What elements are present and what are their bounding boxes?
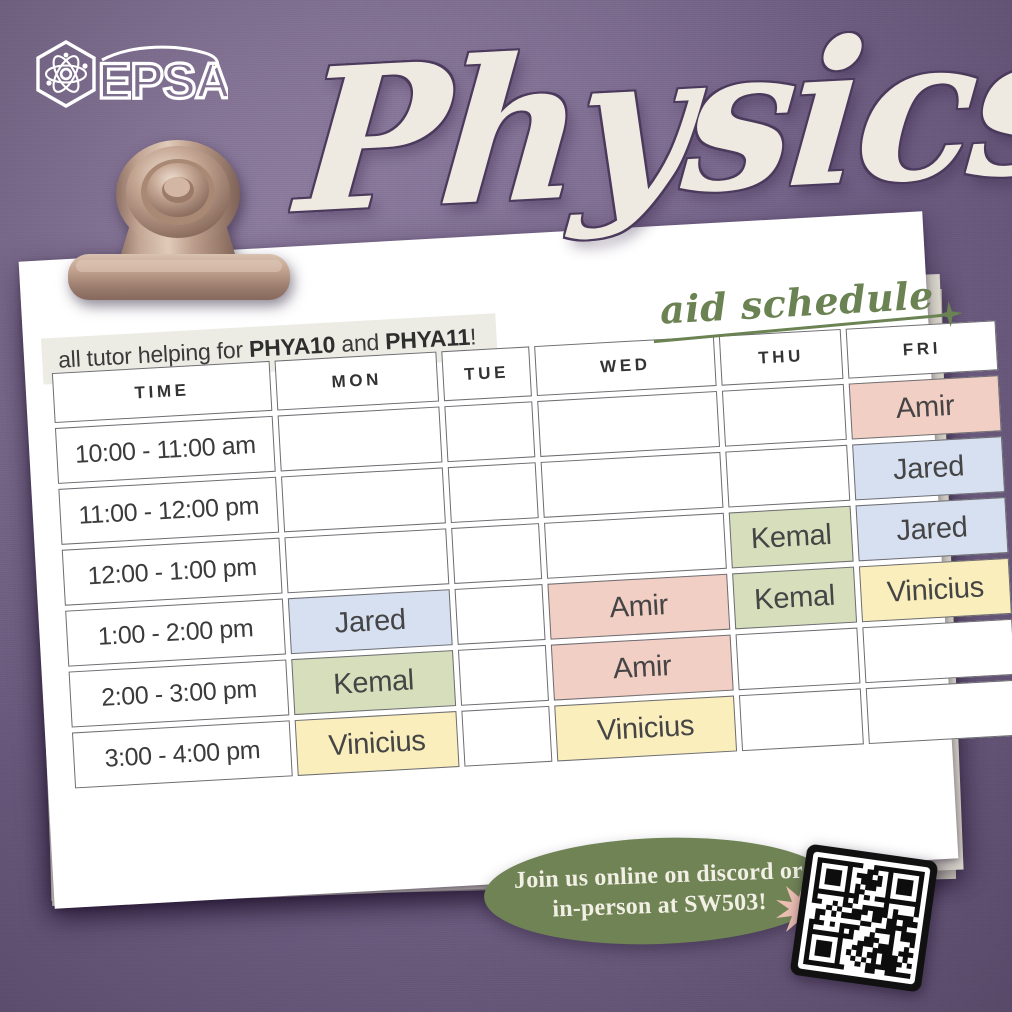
slot-thu xyxy=(736,628,861,691)
slot-mon xyxy=(284,528,449,593)
slot-fri xyxy=(862,619,1012,683)
col-header-time: TIME xyxy=(52,361,272,423)
table-body: 10:00 - 11:00 am Amir 11:00 - 12:00 pm J… xyxy=(55,375,1012,788)
slot-fri: Vinicius xyxy=(859,558,1012,622)
slot-wed xyxy=(544,513,727,579)
time-slot: 11:00 - 12:00 pm xyxy=(58,477,279,545)
slot-wed: Amir xyxy=(547,574,730,640)
schedule-table: TIME MON TUE WED THU FRI 10:00 - 11:00 a… xyxy=(47,315,1012,794)
slot-mon xyxy=(278,407,443,472)
binder-clip-icon xyxy=(60,128,298,328)
qr-code[interactable] xyxy=(789,843,938,992)
slot-tue xyxy=(458,645,549,706)
time-slot: 10:00 - 11:00 am xyxy=(55,416,276,484)
slot-mon: Vinicius xyxy=(295,711,460,776)
slot-fri: Jared xyxy=(852,436,1005,500)
slot-mon: Jared xyxy=(288,589,453,654)
col-header-wed: WED xyxy=(534,336,717,396)
slot-wed xyxy=(537,391,720,457)
slot-thu xyxy=(739,688,864,751)
col-header-tue: TUE xyxy=(441,346,532,401)
slot-thu: Kemal xyxy=(732,567,857,630)
slot-tue xyxy=(451,523,542,584)
epsa-logo: EPSA xyxy=(28,36,228,112)
slot-fri: Jared xyxy=(856,497,1009,561)
slot-thu: Kemal xyxy=(729,506,854,569)
col-header-mon: MON xyxy=(275,352,440,411)
qr-inner xyxy=(797,851,930,984)
slot-wed: Amir xyxy=(551,635,734,701)
time-slot: 1:00 - 2:00 pm xyxy=(65,599,286,667)
slot-thu xyxy=(725,445,850,508)
slot-wed xyxy=(541,452,724,518)
slot-fri: Amir xyxy=(849,375,1002,439)
slot-mon xyxy=(281,467,446,532)
time-slot: 3:00 - 4:00 pm xyxy=(72,720,293,788)
hexagon-atom-icon: EPSA xyxy=(28,36,228,112)
slot-wed: Vinicius xyxy=(554,696,737,762)
time-slot: 12:00 - 1:00 pm xyxy=(62,538,283,606)
col-header-thu: THU xyxy=(719,329,844,386)
slot-tue xyxy=(444,401,535,462)
slot-thu xyxy=(722,384,847,447)
svg-text:EPSA: EPSA xyxy=(98,53,228,109)
slot-tue xyxy=(448,462,539,523)
slot-mon: Kemal xyxy=(291,650,456,715)
qr-frame xyxy=(789,843,938,992)
slot-tue xyxy=(455,584,546,645)
qr-module-grid xyxy=(803,857,925,979)
col-header-fri: FRI xyxy=(846,320,999,378)
slot-fri xyxy=(866,680,1012,744)
time-slot: 2:00 - 3:00 pm xyxy=(69,659,290,727)
slot-tue xyxy=(461,706,552,767)
